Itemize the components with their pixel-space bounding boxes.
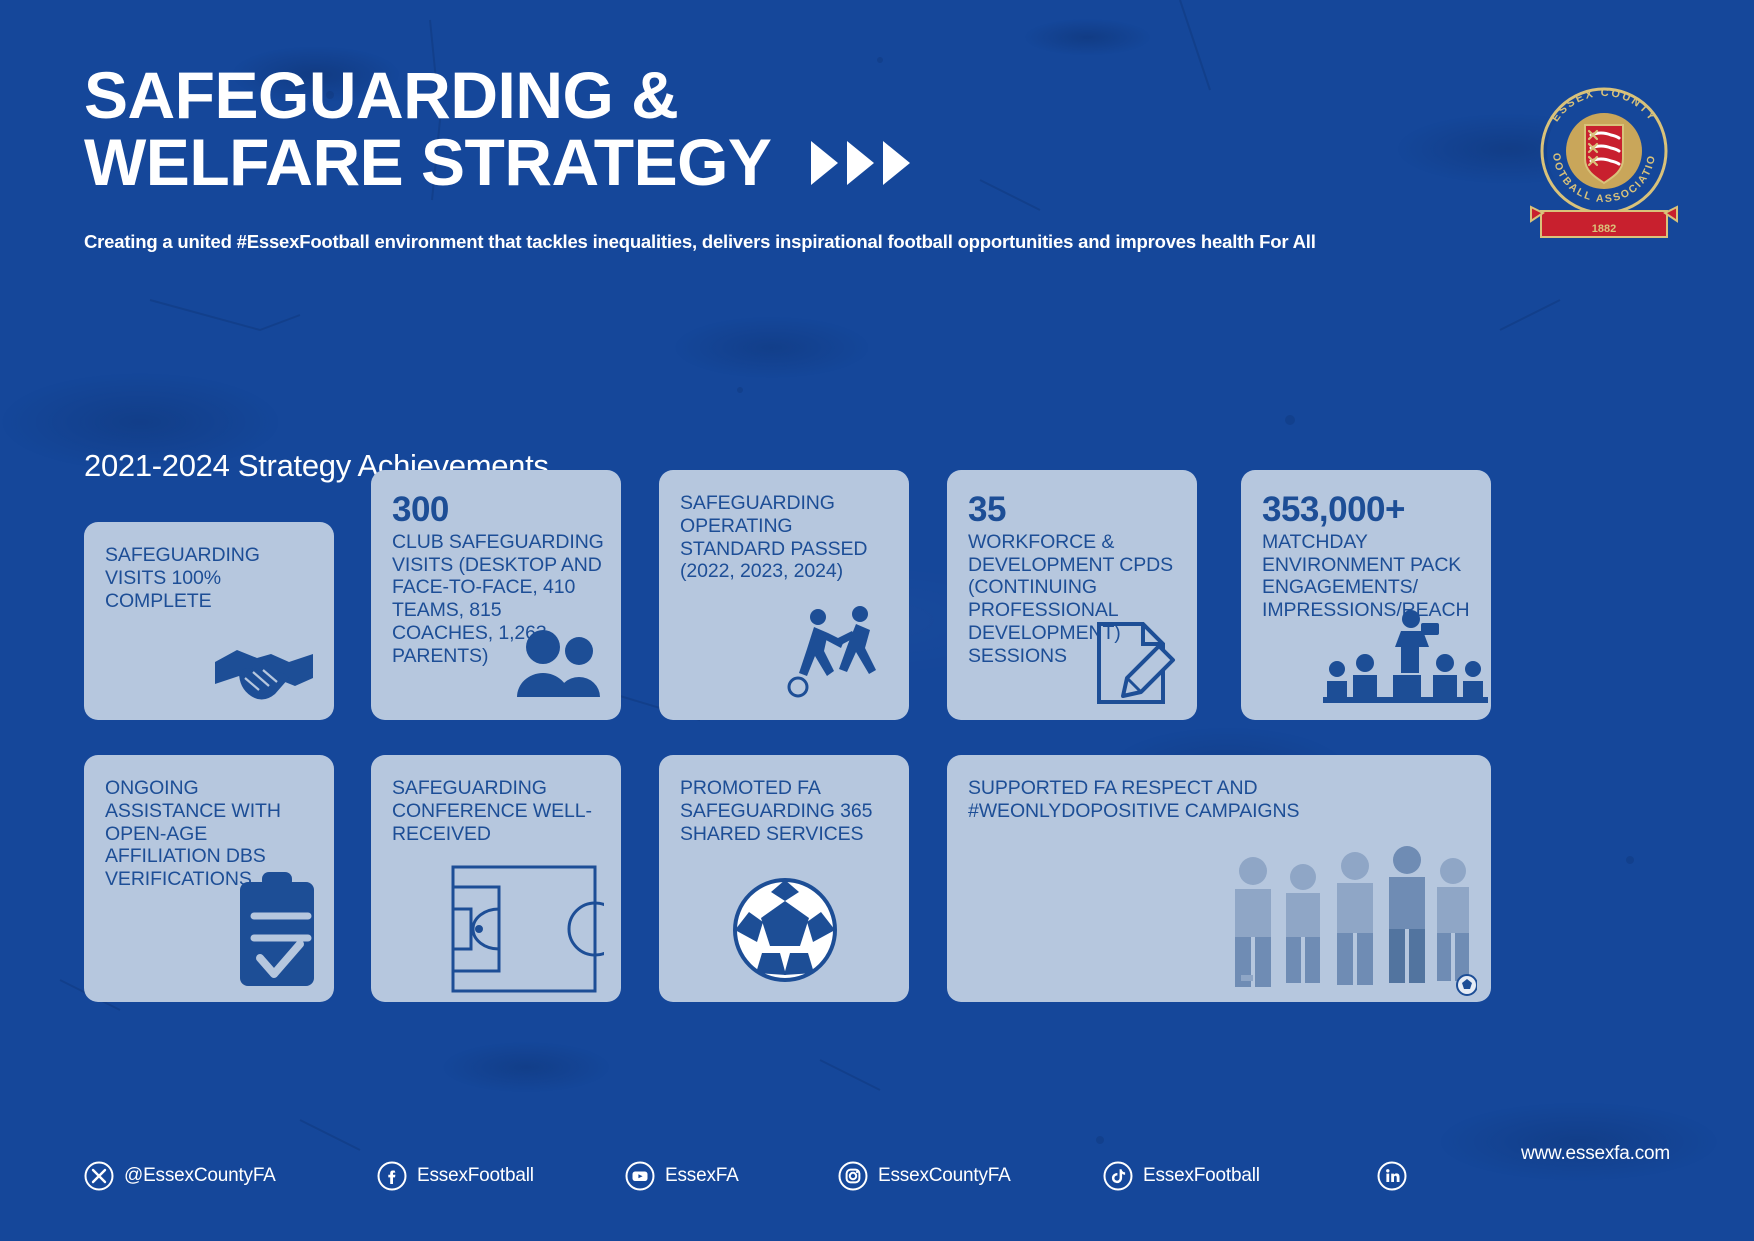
title-line-2: WELFARE STRATEGY [84,129,771,196]
pitch-icon [439,865,604,993]
arrow-right-icon [811,141,838,185]
achievement-card: SUPPORTED FA RESPECT AND #WEONLYDOPOSITI… [947,755,1491,1002]
linkedin-icon [1377,1161,1407,1191]
social-link-youtube[interactable]: EssexFA [625,1161,739,1191]
social-label: EssexFootball [1143,1165,1260,1187]
arrow-right-icon [847,141,874,185]
card-number: 353,000+ [1262,492,1477,528]
arrow-right-icon [883,141,910,185]
card-text: PROMOTED FA SAFEGUARDING 365 SHARED SERV… [680,777,895,845]
players-running-icon [784,605,894,700]
football-icon [732,877,838,983]
social-link-tiktok[interactable]: EssexFootball [1103,1161,1260,1191]
social-label: EssexFootball [417,1165,534,1187]
facebook-icon [377,1161,407,1191]
clipboard-check-icon [232,870,322,992]
card-number: 35 [968,492,1183,528]
achievement-card: PROMOTED FA SAFEGUARDING 365 SHARED SERV… [659,755,909,1002]
card-text: SUPPORTED FA RESPECT AND #WEONLYDOPOSITI… [968,777,1398,823]
tiktok-icon [1103,1161,1133,1191]
youtube-icon [625,1161,655,1191]
website-url[interactable]: www.essexfa.com [1521,1143,1670,1165]
chevron-arrows [811,141,910,185]
social-link-instagram[interactable]: EssexCountyFA [838,1161,1011,1191]
social-label: @EssexCountyFA [124,1165,276,1187]
achievement-card: 35 WORKFORCE & DEVELOPMENT CPDs (CONTINU… [947,470,1197,720]
team-lineup-icon [1227,837,1477,997]
card-text: SAFEGUARDING OPERATING STANDARD PASSED (… [680,492,895,583]
x-twitter-icon [84,1161,114,1191]
title-line-1: SAFEGUARDING & [84,62,678,129]
footer-social-bar: @EssexCountyFA EssexFootball EssexFA [0,1161,1754,1205]
header: SAFEGUARDING & WELFARE STRATEGY Creating… [84,62,1464,253]
instagram-icon [838,1161,868,1191]
card-text: SAFEGUARDING VISITS 100% COMPLETE [105,544,320,612]
achievement-card: 353,000+ MATCHDAY ENVIRONMENT PACK ENGAG… [1241,470,1491,720]
card-number: 300 [392,492,607,528]
people-icon [511,625,607,705]
achievement-card: SAFEGUARDING CONFERENCE WELL-RECEIVED [371,755,621,1002]
achievement-card: 300 CLUB SAFEGUARDING VISITS (DESKTOP AN… [371,470,621,720]
social-link-facebook[interactable]: EssexFootball [377,1161,534,1191]
essex-county-fa-crest: ESSEX COUNTY FOOTBALL ASSOCIATION 1882 [1527,71,1681,247]
document-pencil-icon [1087,618,1187,708]
social-label: EssexFA [665,1165,739,1187]
card-text: SAFEGUARDING CONFERENCE WELL-RECEIVED [392,777,607,845]
handshake-icon [209,632,319,712]
achievement-card: ONGOING ASSISTANCE WITH OPEN-AGE AFFILIA… [84,755,334,1002]
infographic-page: SAFEGUARDING & WELFARE STRATEGY Creating… [0,0,1754,1241]
subtitle: Creating a united #EssexFootball environ… [84,231,1464,253]
page-title: SAFEGUARDING & WELFARE STRATEGY [84,62,1464,197]
crest-year: 1882 [1592,223,1616,235]
achievement-card: SAFEGUARDING VISITS 100% COMPLETE [84,522,334,720]
social-link-x[interactable]: @EssexCountyFA [84,1161,276,1191]
photographer-crowd-icon [1323,605,1488,705]
social-link-linkedin[interactable] [1377,1161,1417,1191]
social-label: EssexCountyFA [878,1165,1011,1187]
achievement-card: SAFEGUARDING OPERATING STANDARD PASSED (… [659,470,909,720]
